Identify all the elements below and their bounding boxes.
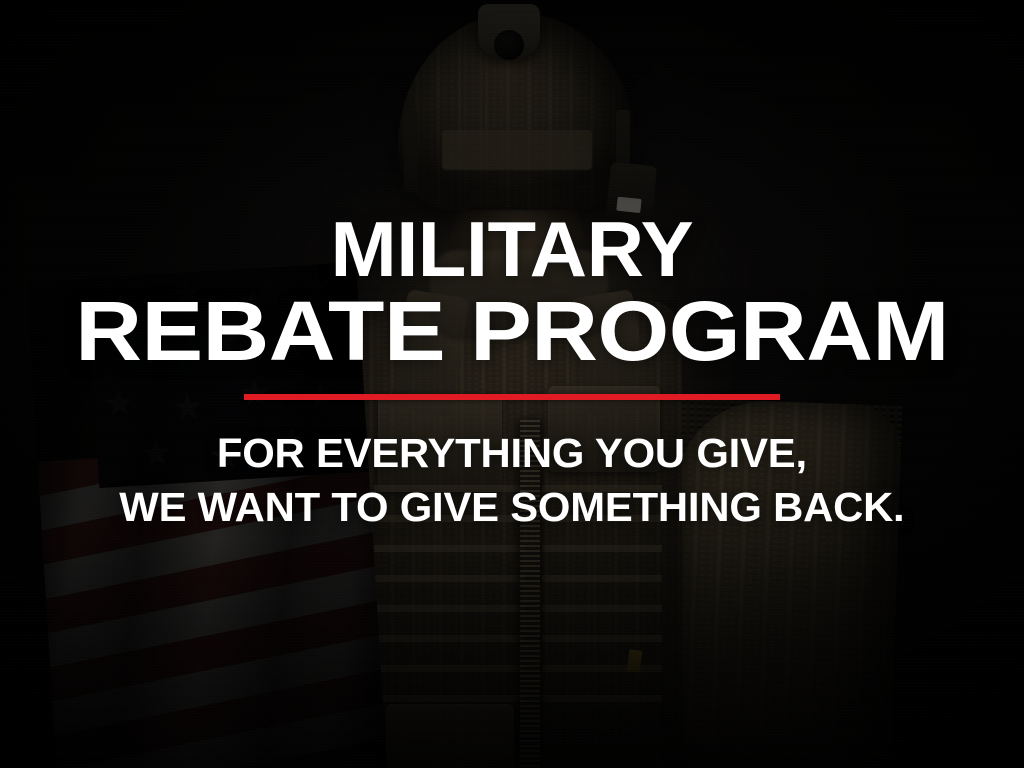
- subheadline: FOR EVERYTHING YOU GIVE, WE WANT TO GIVE…: [119, 426, 904, 534]
- red-divider-rule: [244, 394, 780, 400]
- text-overlay: MILITARY REBATE PROGRAM FOR EVERYTHING Y…: [0, 0, 1024, 768]
- subheadline-line-1: FOR EVERYTHING YOU GIVE,: [119, 426, 904, 480]
- headline-line-1: MILITARY: [331, 212, 694, 287]
- promo-slide: MILITARY REBATE PROGRAM FOR EVERYTHING Y…: [0, 0, 1024, 768]
- subheadline-line-2: WE WANT TO GIVE SOMETHING BACK.: [119, 480, 904, 534]
- headline-line-2: REBATE PROGRAM: [75, 291, 949, 372]
